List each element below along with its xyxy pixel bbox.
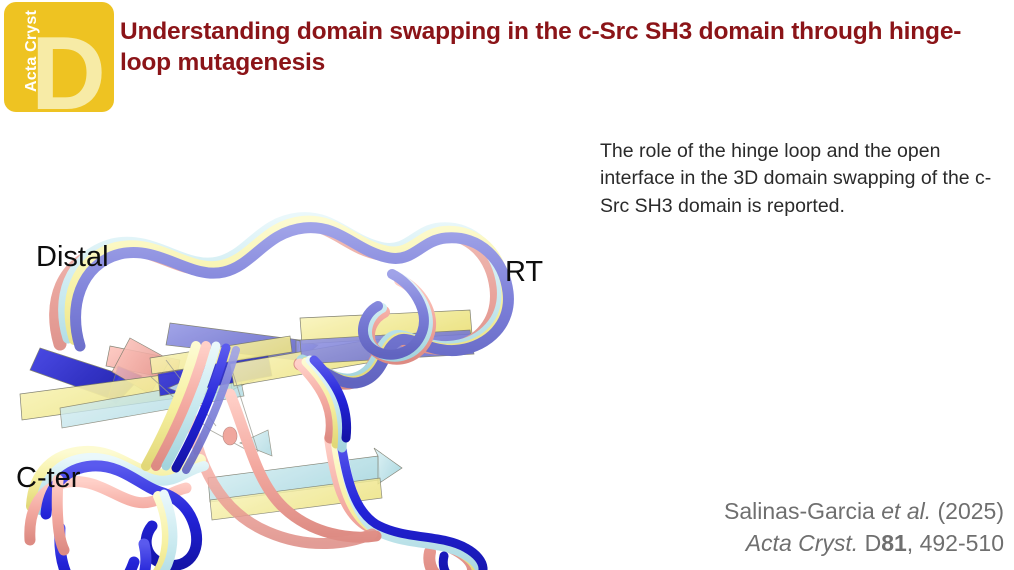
citation-etal: et al. [881,498,931,524]
structure-label-distal: Distal [36,241,109,274]
protein-structure-figure: Distal RT C-ter N-ter n-Src [0,108,600,570]
acta-cryst-logo-badge: Acta Cryst D [4,2,114,112]
slide-root: Acta Cryst D Understanding domain swappi… [0,0,1014,570]
page-title: Understanding domain swapping in the c-S… [120,16,980,79]
citation-block: Salinas-Garcia et al. (2025) Acta Cryst.… [544,495,1004,560]
citation-pages: 492-510 [920,530,1004,556]
citation-authors: Salinas-Garcia [724,498,875,524]
protein-ribbon-svg [0,108,600,570]
structure-label-rt: RT [505,256,543,289]
citation-comma: , [907,530,913,556]
citation-line-authors: Salinas-Garcia et al. (2025) [544,495,1004,528]
ligand-blob [223,427,237,445]
citation-line-journal: Acta Cryst. D81, 492-510 [544,527,1004,560]
synopsis-paragraph: The role of the hinge loop and the open … [600,138,1000,220]
structure-label-cter: C-ter [16,462,80,495]
citation-volume: 81 [881,530,907,556]
citation-series: D [865,530,882,556]
citation-year: (2025) [938,498,1004,524]
citation-journal: Acta Cryst. [746,530,858,556]
